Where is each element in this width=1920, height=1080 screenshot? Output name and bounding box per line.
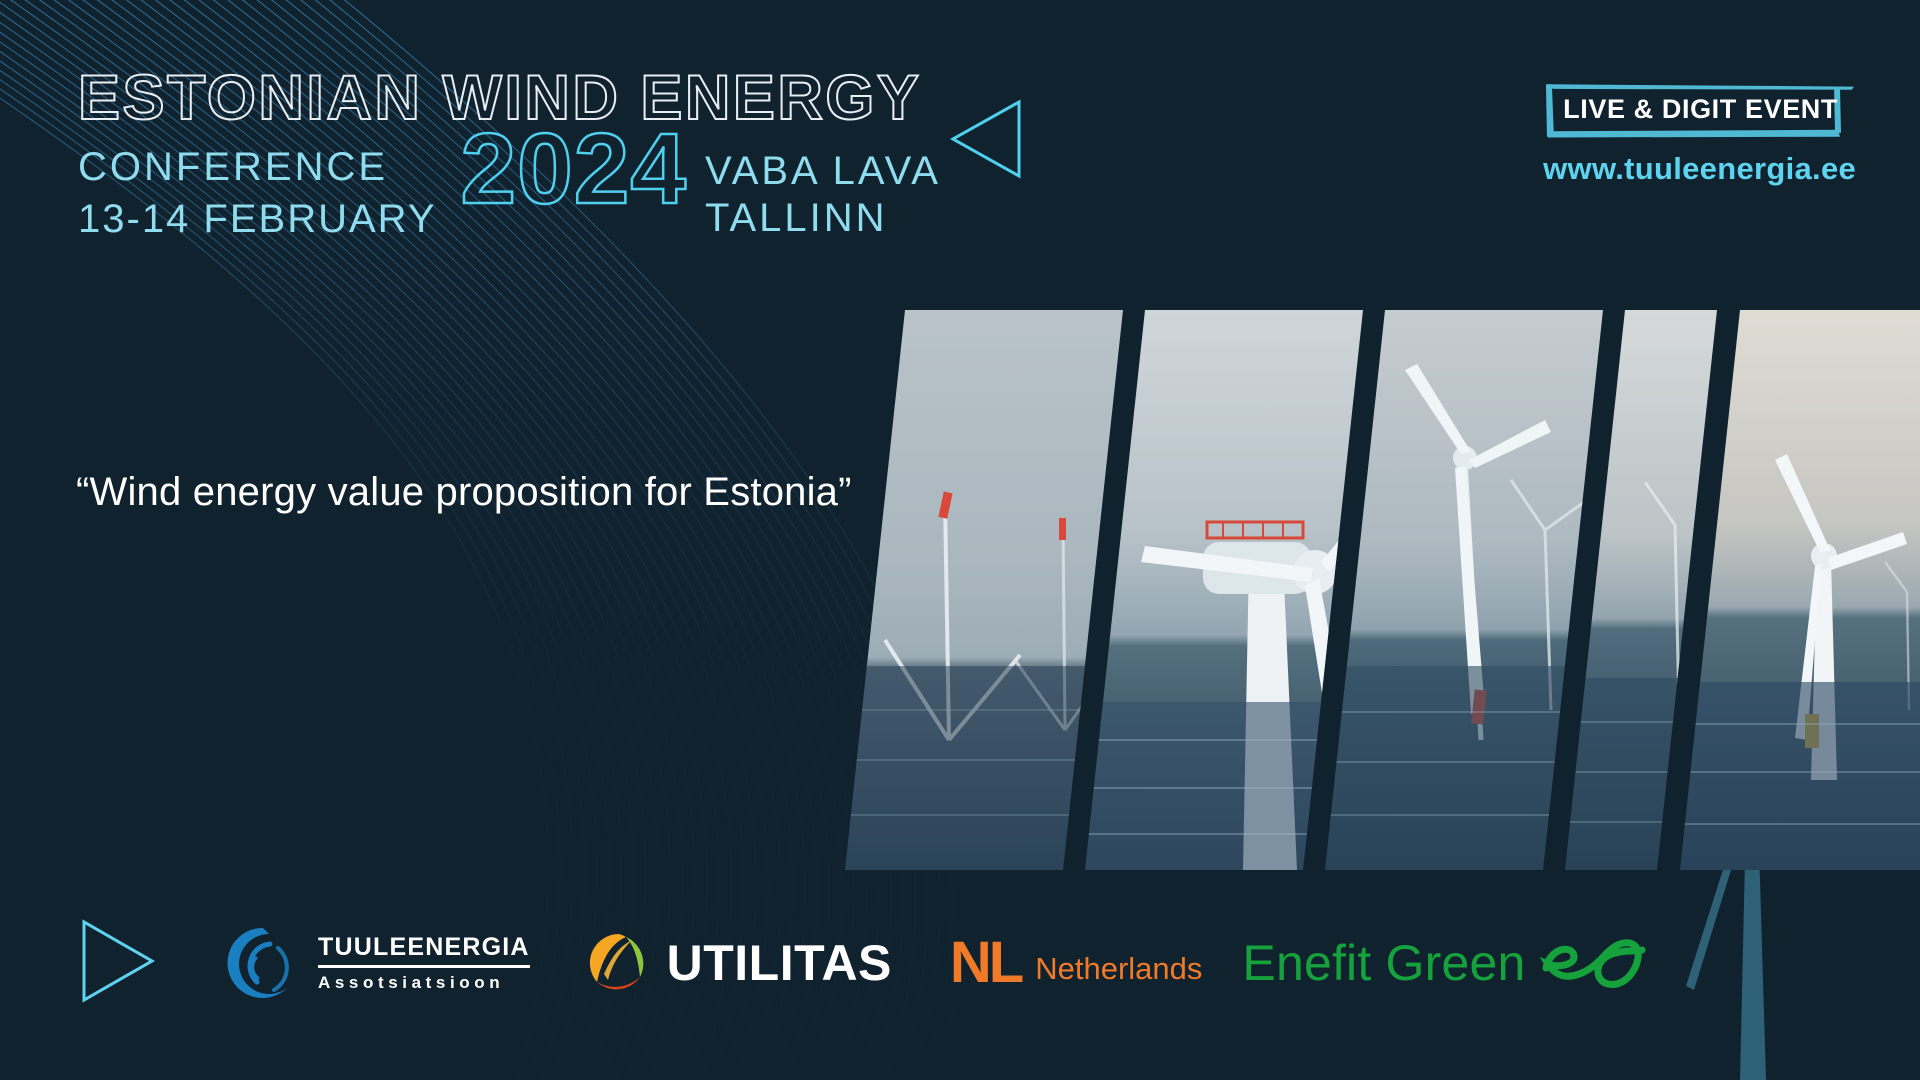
sponsor-logo-tuuleenergia[interactable]: TUULEENERGIA Assotsiatsioon <box>222 922 530 1004</box>
venue-line-1: VABA LAVA <box>705 148 941 195</box>
netherlands-wordmark: Netherlands <box>1035 946 1202 993</box>
photo-strip <box>845 310 1920 870</box>
tuuleenergia-wordmark: TUULEENERGIA Assotsiatsioon <box>318 933 530 993</box>
live-event-badge: LIVE & DIGIT EVENT <box>1541 82 1858 139</box>
sponsor-logo-utilitas[interactable]: UTILITAS <box>586 930 892 996</box>
badge-label: LIVE & DIGIT EVENT <box>1563 94 1838 125</box>
event-dates: 13-14 FEBRUARY <box>78 198 437 240</box>
subtitle-row: CONFERENCE 13-14 FEBRUARY 2024 VABA LAVA… <box>78 136 947 242</box>
event-badge-block: LIVE & DIGIT EVENT www.tuuleenergia.ee <box>1541 82 1858 187</box>
event-header: ESTONIAN WIND ENERGY CONFERENCE 13-14 FE… <box>78 66 947 243</box>
tuuleenergia-subtitle: Assotsiatsioon <box>318 968 530 993</box>
enefit-green-eg-mark-icon <box>1538 932 1646 994</box>
conference-dates-block: CONFERENCE 13-14 FEBRUARY <box>78 136 437 240</box>
tuuleenergia-name: TUULEENERGIA <box>318 933 530 968</box>
sponsor-bar: TUULEENERGIA Assotsiatsioon UTILITAS NL … <box>78 908 1646 1018</box>
tuuleenergia-swirl-icon <box>222 922 304 1004</box>
play-triangle-right-icon <box>78 918 156 1009</box>
enefit-green-wordmark: Enefit Green <box>1242 934 1525 992</box>
conference-label: CONFERENCE <box>78 146 437 188</box>
presentation-slide: ESTONIAN WIND ENERGY CONFERENCE 13-14 FE… <box>0 0 1920 1080</box>
slide-quote: “Wind energy value proposition for Eston… <box>76 470 852 515</box>
website-url[interactable]: www.tuuleenergia.ee <box>1541 151 1858 187</box>
utilitas-wordmark: UTILITAS <box>667 934 892 992</box>
venue-block: VABA LAVA TALLINN <box>705 136 941 242</box>
utilitas-circle-icon <box>586 930 652 996</box>
sponsor-logo-enefit-green[interactable]: Enefit Green <box>1242 932 1645 994</box>
event-year: 2024 <box>461 122 687 216</box>
sponsor-logo-netherlands[interactable]: NL Netherlands <box>950 934 1202 992</box>
nl-monogram: NL <box>950 934 1021 992</box>
venue-line-2: TALLINN <box>705 195 941 242</box>
